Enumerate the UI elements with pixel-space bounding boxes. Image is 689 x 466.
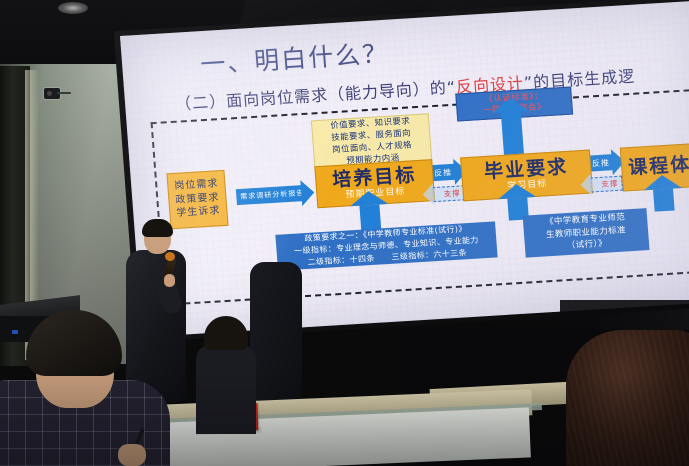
reverse-arrow-1: 反推 xyxy=(433,164,456,181)
projection-screen: 一、明白什么？ （二）面向岗位需求（能力导向）的“反向设计”的目标生成逻 岗位需… xyxy=(120,0,689,337)
support-arrow-1-label: 支撑 xyxy=(443,187,461,199)
foreground-attendee-left xyxy=(0,318,180,466)
ceiling-light xyxy=(58,2,88,14)
demand-line-1: 岗位需求 xyxy=(168,179,225,193)
presenter-hand xyxy=(164,274,175,287)
support-arrow-1: 支撑 xyxy=(432,185,465,202)
background-person-body xyxy=(250,262,302,412)
support-arrow-2-label: 支撑 xyxy=(601,178,619,190)
seated-person-background xyxy=(196,316,256,426)
support-arrow-2: 支撑 xyxy=(590,176,623,193)
teacher-ability-standard-footer: 《中学教育专业师范 生教师职业能力标准 （试行）》 xyxy=(523,208,650,257)
reverse-arrow-1-label: 反推 xyxy=(434,167,453,179)
seated-person-body xyxy=(196,344,256,434)
course-footer-up-arrow xyxy=(653,189,675,212)
right-attendee-hair-texture xyxy=(566,330,689,466)
slide-surface: 一、明白什么？ （二）面向岗位需求（能力导向）的“反向设计”的目标生成逻 岗位需… xyxy=(120,0,689,337)
presenter-hair xyxy=(142,219,173,237)
microphone-head-icon xyxy=(165,252,175,261)
attendee-hair xyxy=(26,310,122,376)
reverse-arrow-2-label: 反推 xyxy=(592,157,611,169)
background-standing-person xyxy=(250,262,302,412)
demand-box: 岗位需求 政策要求 学生诉求 xyxy=(166,170,228,229)
screenshot-scene: 一、明白什么？ （二）面向岗位需求（能力导向）的“反向设计”的目标生成逻 岗位需… xyxy=(0,0,689,466)
report-arrow-label: 需求调研分析报告 xyxy=(240,188,305,202)
seated-person-hair xyxy=(204,316,248,350)
reverse-arrow-2: 反推 xyxy=(590,154,613,171)
camera-lens-icon xyxy=(47,91,52,96)
attendee-hand xyxy=(118,444,146,466)
certification-up-arrow xyxy=(501,112,524,155)
foreground-attendee-right xyxy=(566,330,689,466)
demand-line-3: 学生诉求 xyxy=(170,206,227,220)
